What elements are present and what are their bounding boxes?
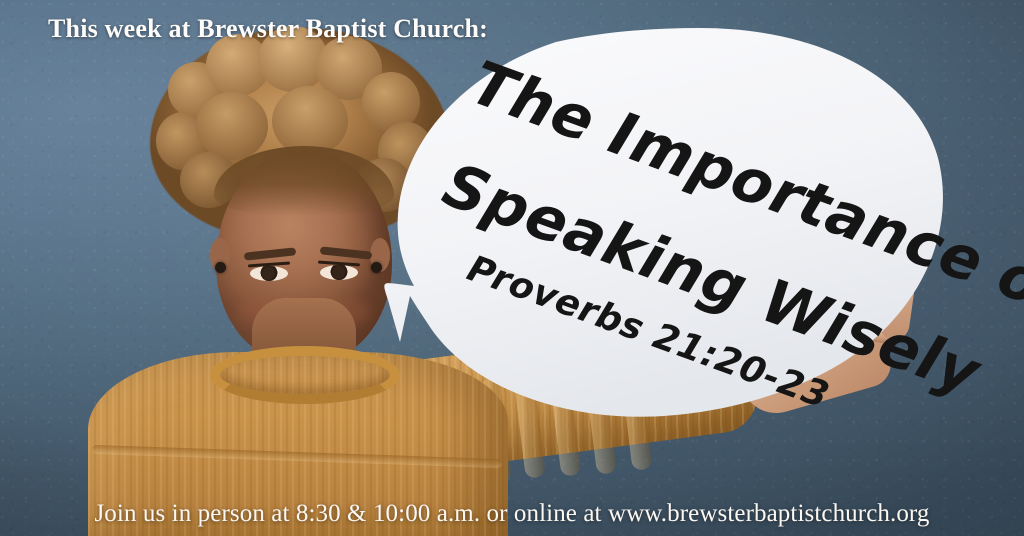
speech-bubble-sign: The Importance of Speaking Wisely Prover… bbox=[0, 0, 1024, 536]
footer-text: Join us in person at 8:30 & 10:00 a.m. o… bbox=[0, 500, 1024, 528]
speech-bubble-shape bbox=[0, 0, 1024, 536]
header-text: This week at Brewster Baptist Church: bbox=[48, 14, 488, 44]
sermon-graphic: The Importance of Speaking Wisely Prover… bbox=[0, 0, 1024, 536]
